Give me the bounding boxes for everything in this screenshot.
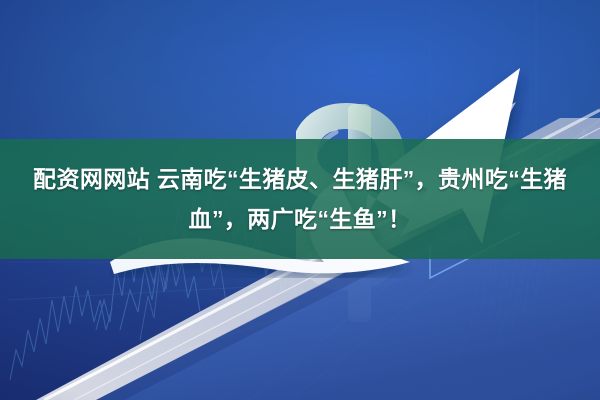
banner-image: 配资网网站 云南吃“生猪皮、生猪肝”，贵州吃“生猪血”，两广吃“生鱼”！: [0, 0, 600, 400]
vignette-overlay: [0, 0, 600, 400]
